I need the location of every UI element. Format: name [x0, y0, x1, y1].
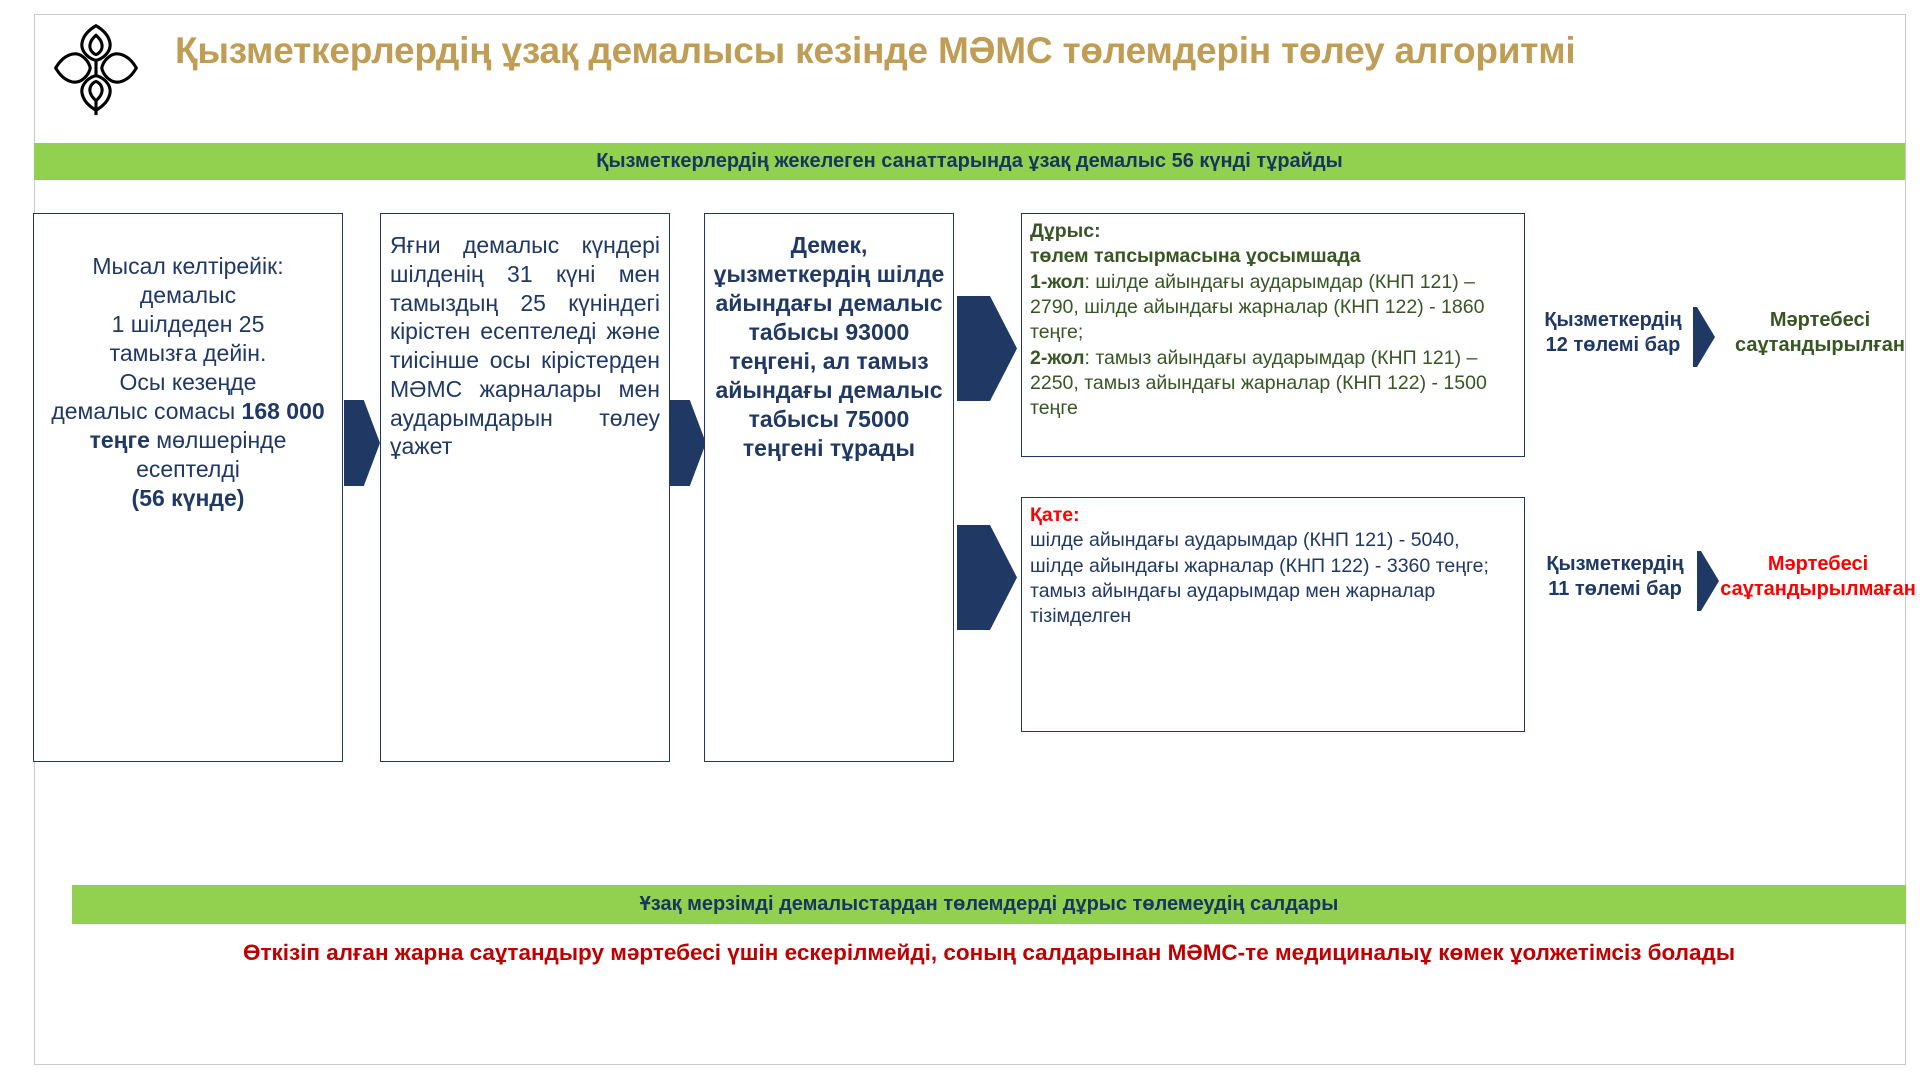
outcome-wrong-payments-line1: Қызметкердің: [1546, 553, 1683, 575]
flow-step-3-text: Демек, ұызметкердің шілде айындағы демал…: [705, 214, 953, 469]
outcome-wrong-payments-label: Қызметкердің 11 төлемі бар: [1529, 552, 1701, 602]
outcome-wrong-status-line2: саұтандырылмаған: [1720, 578, 1916, 600]
step1-line2: демалыс: [140, 282, 236, 308]
step1-days: (56 күнде): [132, 485, 245, 511]
correct-subheading: төлем тапсырмасына ұосымшада: [1030, 245, 1361, 267]
step1-line6-post: мөлшерінде: [150, 427, 286, 453]
outcome-correct-payments-line2: 12 төлемі бар: [1546, 334, 1681, 356]
wrong-line4: тізімделген: [1030, 605, 1131, 627]
step1-line5: Осы кезеңде: [120, 369, 257, 395]
flow-step-3-box: Демек, ұызметкердің шілде айындағы демал…: [704, 213, 954, 762]
outcome-correct-payments-line1: Қызметкердің: [1544, 309, 1681, 331]
outcome-wrong-status-line1: Мәртебесі: [1768, 553, 1868, 575]
correct-variant-text: Дұрыс: төлем тапсырмасына ұосымшада 1-жо…: [1022, 214, 1524, 422]
step1-line7: есептелді: [136, 456, 240, 482]
wrong-variant-text: Қате: шілде айындағы аударымдар (КНП 121…: [1022, 498, 1524, 630]
wrong-variant-box: Қате: шілде айындағы аударымдар (КНП 121…: [1021, 497, 1525, 732]
correct-row1-text: : шілде айындағы аударымдар (КНП 121) – …: [1030, 271, 1484, 344]
outcome-correct-payments-label: Қызметкердің 12 төлемі бар: [1529, 308, 1697, 358]
flow-step-1-box: Мысал келтірейік: демалыс 1 шілдеден 25 …: [33, 213, 343, 762]
correct-variant-box: Дұрыс: төлем тапсырмасына ұосымшада 1-жо…: [1021, 213, 1525, 457]
flow-step-2-text: Яғни демалыс күндері шілденің 31 күні ме…: [381, 214, 669, 461]
correct-row2-label: 2-жол: [1030, 347, 1085, 369]
outcome-correct-status-line1: Мәртебесі: [1770, 309, 1870, 331]
correct-row2-text: : тамыз айындағы аударымдар (КНП 121) – …: [1030, 347, 1487, 420]
step1-line4: тамызға дейін.: [110, 340, 267, 366]
footer-line2: болады: [1648, 940, 1735, 965]
wrong-line1: шілде айындағы аударымдар (КНП 121) - 50…: [1030, 529, 1460, 551]
outcome-correct-status-line2: саұтандырылған: [1735, 334, 1905, 356]
banner-top: Қызметкерлердің жекелеген санаттарында ұ…: [34, 143, 1905, 180]
footer-line1: Өткізіп алған жарна саұтандыру мәртебесі…: [243, 940, 1641, 965]
outcome-correct-status-badge: Мәртебесі саұтандырылған: [1722, 308, 1918, 358]
footer-warning-note: Өткізіп алған жарна саұтандыру мәртебесі…: [72, 938, 1906, 967]
wrong-heading: Қате:: [1030, 504, 1080, 526]
flow-step-2-box: Яғни демалыс күндері шілденің 31 күні ме…: [380, 213, 670, 762]
wrong-line3: тамыз айындағы аударымдар мен жарналар: [1030, 580, 1435, 602]
flow-step-1-text: Мысал келтірейік: демалыс 1 шілдеден 25 …: [34, 214, 342, 519]
slide-root: Қызметкерлердің ұзақ демалысы кезінде МӘ…: [0, 0, 1920, 1080]
page-title: Қызметкерлердің ұзақ демалысы кезінде МӘ…: [175, 30, 1875, 73]
outcome-wrong-status-badge: Мәртебесі саұтандырылмаған: [1716, 552, 1920, 602]
step1-line3: 1 шілдеден 25: [112, 311, 265, 337]
correct-heading: Дұрыс:: [1030, 220, 1101, 242]
step1-line1: Мысал келтірейік:: [92, 253, 283, 279]
outcome-wrong-payments-line2: 11 төлемі бар: [1548, 578, 1682, 600]
national-emblem-ornament-icon: [48, 20, 144, 116]
correct-row1-label: 1-жол: [1030, 271, 1085, 293]
wrong-line2: шілде айындағы жарналар (КНП 122) - 3360…: [1030, 555, 1489, 577]
banner-bottom: Ұзақ мерзімді демалыстардан төлемдерді д…: [72, 885, 1906, 924]
step1-line6-pre: демалыс сомасы: [51, 398, 241, 424]
